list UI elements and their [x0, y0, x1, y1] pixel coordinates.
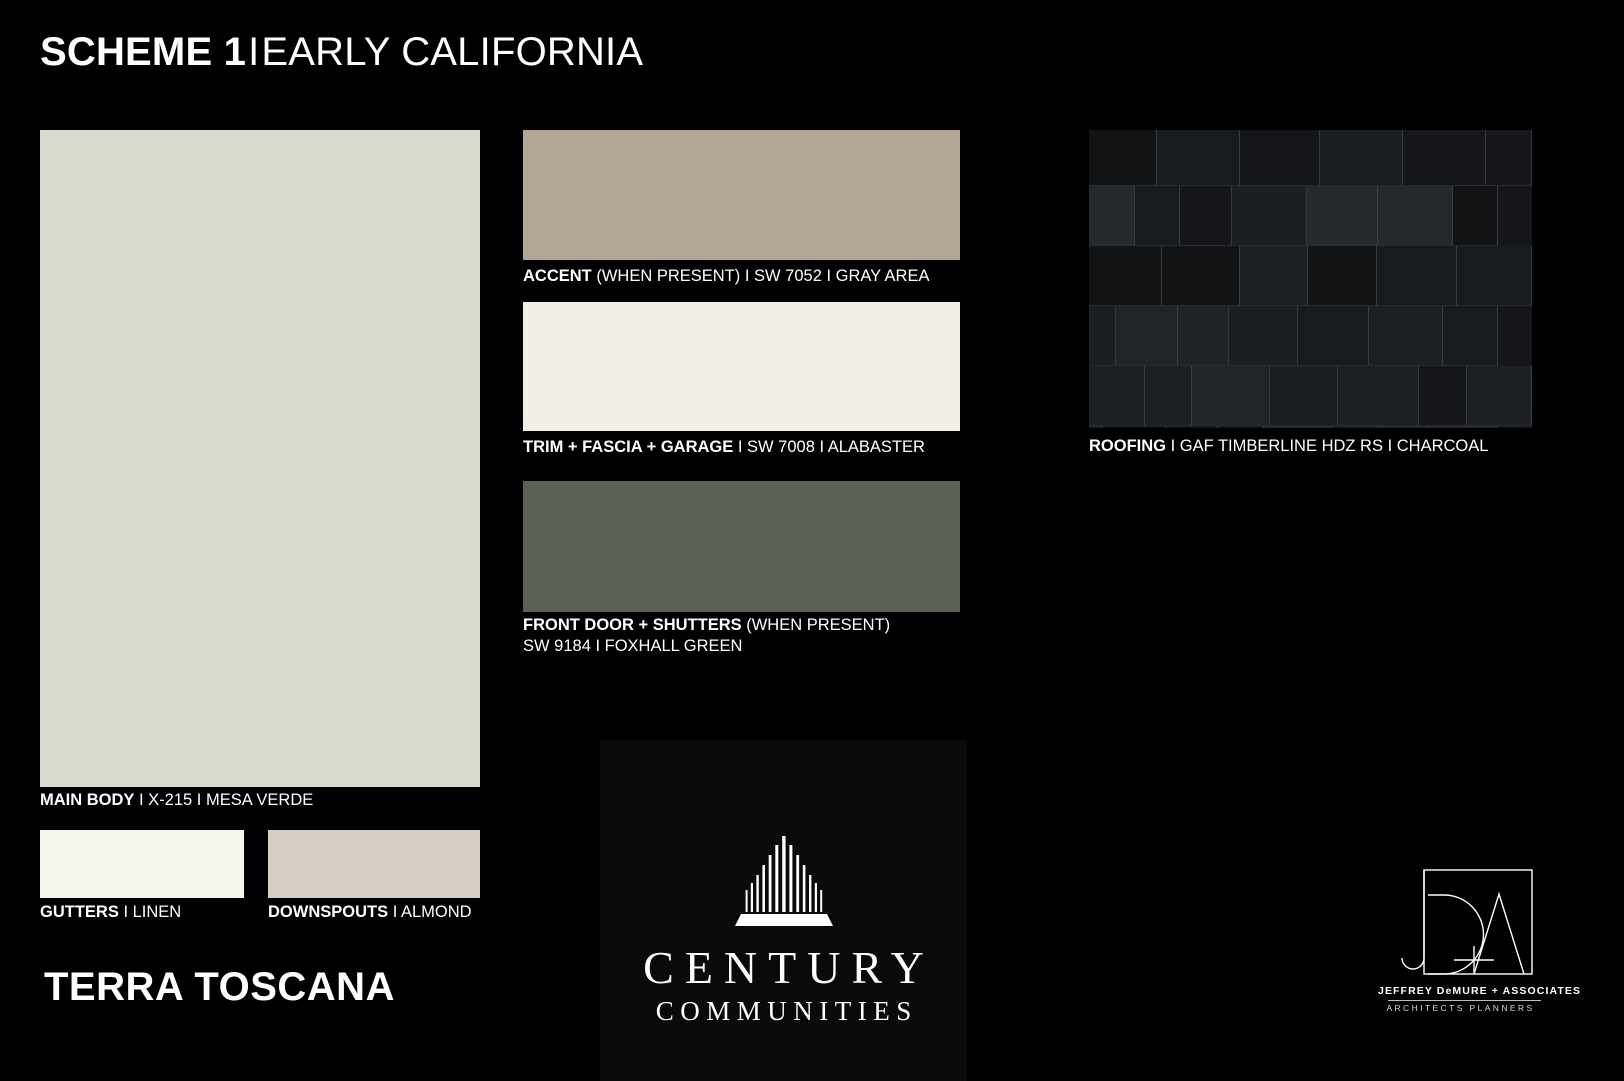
downspouts-detail: I ALMOND — [393, 903, 472, 921]
scheme-number: SCHEME 1 — [40, 30, 246, 74]
shingle-tab — [1443, 306, 1498, 366]
shingle-tab — [1089, 366, 1145, 426]
swatch-label-trim-fascia-garage: TRIM + FASCIA + GARAGE I SW 7008 I ALABA… — [523, 437, 925, 458]
shingle-tab — [1453, 186, 1498, 246]
shingle-tab — [1232, 186, 1307, 246]
main-body-name: MAIN BODY — [40, 791, 134, 809]
shingle-tab — [1320, 130, 1403, 186]
gutters-detail: I LINEN — [123, 903, 181, 921]
swatch-gutters — [40, 830, 244, 898]
shingle-tab — [1135, 186, 1181, 246]
scheme-name: EARLY CALIFORNIA — [261, 30, 643, 74]
jda-divider — [1388, 1000, 1541, 1001]
shingle-tab — [1419, 366, 1468, 426]
shingle-tab — [1192, 366, 1270, 426]
shingle-tab — [1180, 186, 1232, 246]
shingle-tab — [1338, 366, 1419, 426]
shingle-tab — [1240, 246, 1308, 306]
century-communities-logo: CENTURY COMMUNITIES — [600, 740, 967, 1081]
shingle-tab — [1218, 426, 1265, 428]
shingle-tab — [1378, 426, 1429, 428]
shingle-row — [1089, 246, 1532, 306]
shingle-tab — [1457, 246, 1532, 306]
shingle-tab — [1467, 366, 1532, 426]
shingle-tab — [1157, 130, 1240, 186]
swatch-front-door-shutters — [523, 481, 960, 612]
shingle-tab — [1369, 306, 1443, 366]
swatch-trim-fascia-garage — [523, 302, 960, 431]
shingle-tab — [1240, 130, 1319, 186]
swatch-label-gutters: GUTTERS I LINEN — [40, 902, 181, 923]
jda-logo: JEFFREY DeMURE + ASSOCIATES ARCHITECTS P… — [1378, 862, 1543, 1032]
shingle-tab — [1308, 246, 1377, 306]
accent-name: ACCENT — [523, 267, 592, 285]
shingle-tab — [1089, 186, 1135, 246]
swatch-label-accent: ACCENT (WHEN PRESENT) I SW 7052 I GRAY A… — [523, 266, 929, 287]
front-door-detail-line2: SW 9184 I FOXHALL GREEN — [523, 636, 890, 657]
shingle-row — [1089, 366, 1532, 426]
shingle-tab — [1378, 186, 1453, 246]
gutters-name: GUTTERS — [40, 903, 119, 921]
century-building-icon — [719, 828, 849, 933]
shingle-tab — [1307, 186, 1378, 246]
shingle-tab — [1486, 130, 1532, 186]
front-door-name: FRONT DOOR + SHUTTERS — [523, 616, 742, 634]
swatch-main-body — [40, 130, 480, 787]
trim-detail: I SW 7008 I ALABASTER — [738, 438, 925, 456]
accent-detail: (WHEN PRESENT) I SW 7052 I GRAY AREA — [596, 267, 929, 285]
shingle-tab — [1089, 130, 1157, 186]
jda-monogram-icon — [1378, 862, 1543, 982]
shingle-tab — [1145, 366, 1192, 426]
roofing-shingle-photo — [1089, 130, 1532, 428]
jda-firm-discipline: ARCHITECTS PLANNERS — [1378, 1003, 1543, 1013]
shingle-tab — [1298, 306, 1369, 366]
swatch-label-main-body: MAIN BODY I X-215 I MESA VERDE — [40, 790, 313, 811]
shingle-tab — [1102, 426, 1165, 428]
swatch-accent — [523, 130, 960, 260]
shingle-row — [1089, 306, 1498, 366]
shingle-tab — [1270, 366, 1338, 426]
shingle-tab — [1332, 426, 1378, 428]
swatch-label-front-door-shutters: FRONT DOOR + SHUTTERS (WHEN PRESENT) SW … — [523, 615, 890, 657]
roofing-detail: I GAF TIMBERLINE HDZ RS I CHARCOAL — [1171, 437, 1489, 455]
shingle-tab — [1089, 306, 1116, 366]
swatch-label-roofing: ROOFING I GAF TIMBERLINE HDZ RS I CHARCO… — [1089, 436, 1488, 457]
shingle-tab — [1162, 246, 1240, 306]
shingle-row — [1089, 186, 1498, 246]
shingle-tab — [1089, 426, 1102, 428]
shingle-tab — [1377, 246, 1457, 306]
trim-name: TRIM + FASCIA + GARAGE — [523, 438, 733, 456]
downspouts-name: DOWNSPOUTS — [268, 903, 388, 921]
community-name: TERRA TOSCANA — [44, 967, 395, 1007]
roofing-name: ROOFING — [1089, 437, 1166, 455]
shingle-row — [1089, 130, 1532, 186]
shingle-tab — [1229, 306, 1297, 366]
shingle-tab — [1403, 130, 1486, 186]
main-body-detail: I X-215 I MESA VERDE — [139, 791, 313, 809]
shingle-tab — [1429, 426, 1498, 428]
swatch-label-downspouts: DOWNSPOUTS I ALMOND — [268, 902, 472, 923]
title-separator: I — [246, 30, 261, 74]
shingle-row — [1089, 426, 1498, 428]
shingle-tab — [1166, 426, 1218, 428]
century-subword: COMMUNITIES — [600, 998, 967, 1025]
shingle-tab — [1178, 306, 1229, 366]
jda-firm-name: JEFFREY DeMURE + ASSOCIATES — [1378, 985, 1543, 997]
century-wordmark: CENTURY — [600, 945, 967, 991]
swatch-downspouts — [268, 830, 480, 898]
front-door-detail: (WHEN PRESENT) — [746, 616, 890, 634]
shingle-tab — [1089, 246, 1162, 306]
shingle-tab — [1264, 426, 1332, 428]
page-title: SCHEME 1IEARLY CALIFORNIA — [40, 32, 643, 72]
shingle-tab — [1116, 306, 1178, 366]
